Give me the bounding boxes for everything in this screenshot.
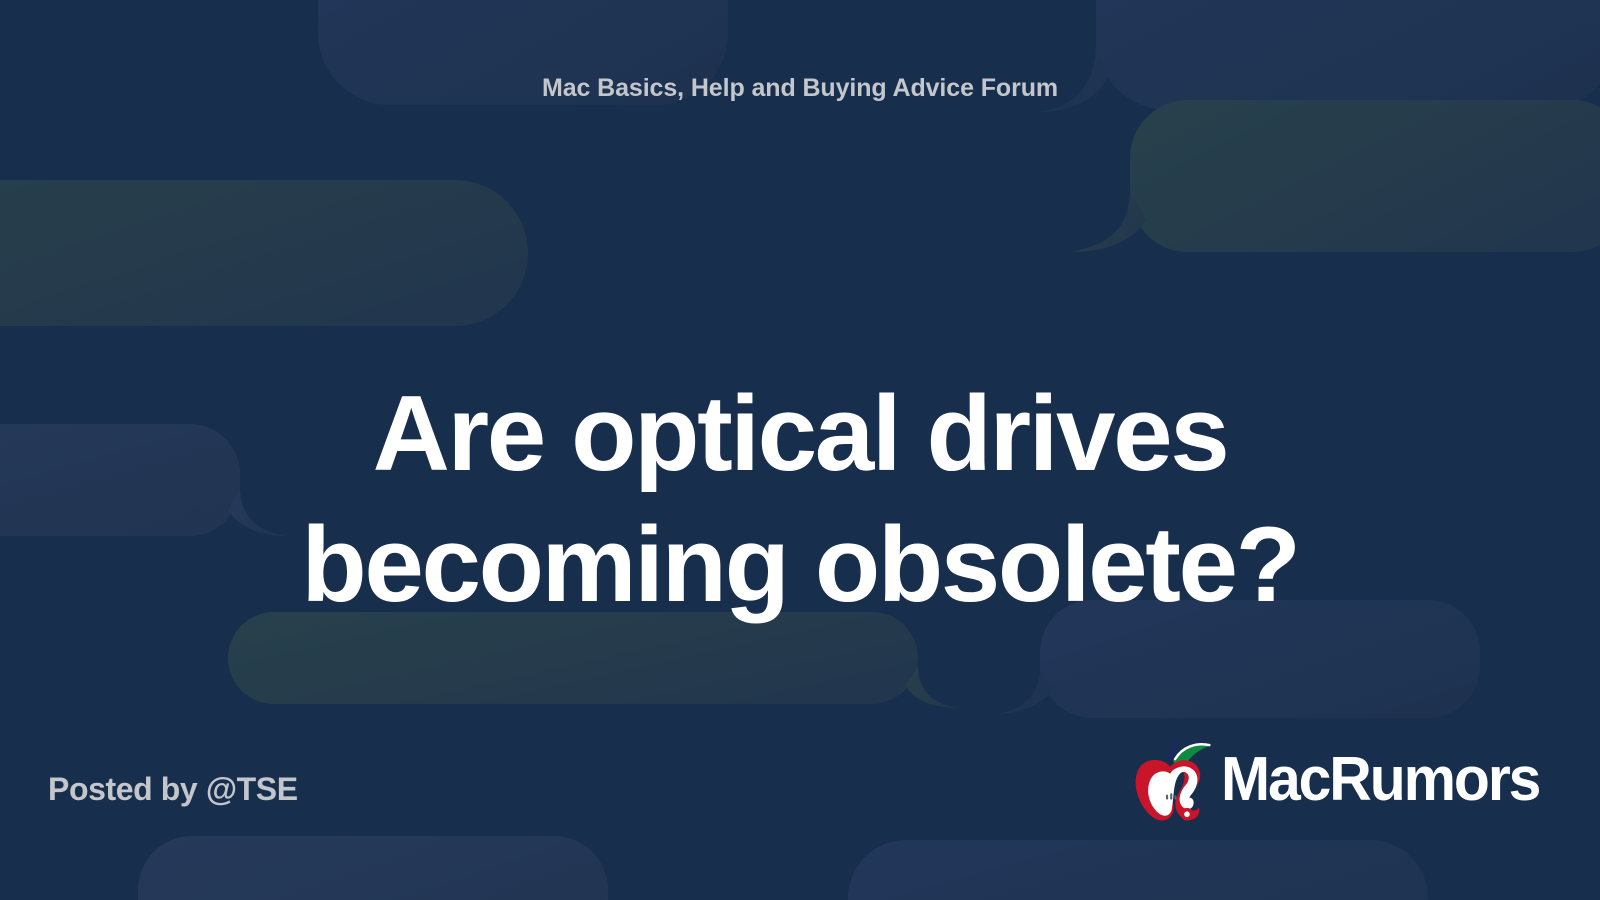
forum-name: Mac Basics, Help and Buying Advice Forum	[0, 74, 1600, 103]
macrumors-logo: MacRumors	[1131, 736, 1556, 824]
page-title-line-1: Are optical drives	[60, 368, 1540, 499]
posted-by-label: Posted by @TSE	[48, 771, 298, 808]
page-title-line-2: becoming obsolete?	[60, 499, 1540, 630]
macrumors-apple-logo-icon	[1131, 736, 1215, 824]
share-card: Mac Basics, Help and Buying Advice Forum…	[0, 0, 1600, 900]
page-title: Are optical drives becoming obsolete?	[60, 368, 1540, 630]
macrumors-wordmark: MacRumors	[1221, 749, 1539, 811]
card-content: Mac Basics, Help and Buying Advice Forum…	[0, 0, 1600, 900]
